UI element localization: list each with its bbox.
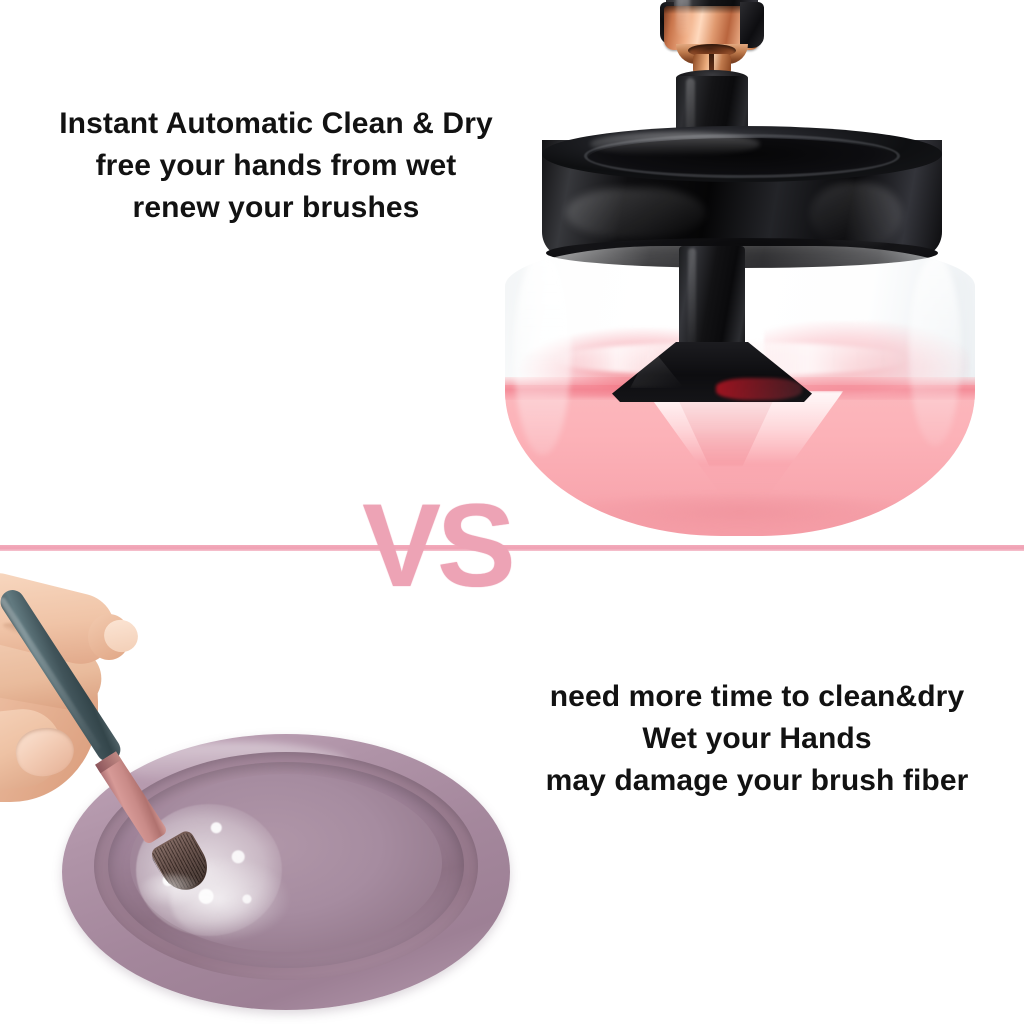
automatic-brush-cleaner-product: [480, 0, 980, 552]
top-headline: Instant Automatic Clean & Dry free your …: [16, 103, 536, 229]
bottom-headline-line-1: need more time to clean&dry: [492, 676, 1022, 718]
brush-handle: [0, 585, 125, 766]
top-headline-line-1: Instant Automatic Clean & Dry: [16, 103, 536, 145]
comparison-image: Instant Automatic Clean & Dry free your …: [0, 0, 1024, 1024]
glass-highlight-right: [909, 255, 961, 446]
bottom-headline-line-3: may damage your brush fiber: [492, 760, 1022, 802]
top-headline-line-3: renew your brushes: [16, 187, 536, 229]
manual-cleaning-mat-product: [0, 556, 560, 1024]
top-headline-line-2: free your hands from wet: [16, 145, 536, 187]
lid-top-highlight: [590, 132, 760, 156]
bowl-base-shading: [533, 495, 947, 536]
lid-highlight-left: [566, 188, 706, 238]
motor-highlight: [676, 0, 690, 36]
lower-shaft-highlight: [688, 248, 696, 348]
bottom-headline: need more time to clean&dry Wet your Han…: [492, 676, 1022, 802]
spinner-red-reflection: [716, 378, 802, 400]
bottom-headline-line-2: Wet your Hands: [492, 718, 1022, 760]
brush-handle-highlight: [0, 596, 102, 750]
motor-side-right: [740, 2, 764, 48]
glass-highlight-left: [514, 252, 570, 455]
brush-wet-foam: [138, 874, 202, 908]
makeup-brush: [0, 592, 248, 912]
lid-highlight-right: [810, 182, 902, 248]
